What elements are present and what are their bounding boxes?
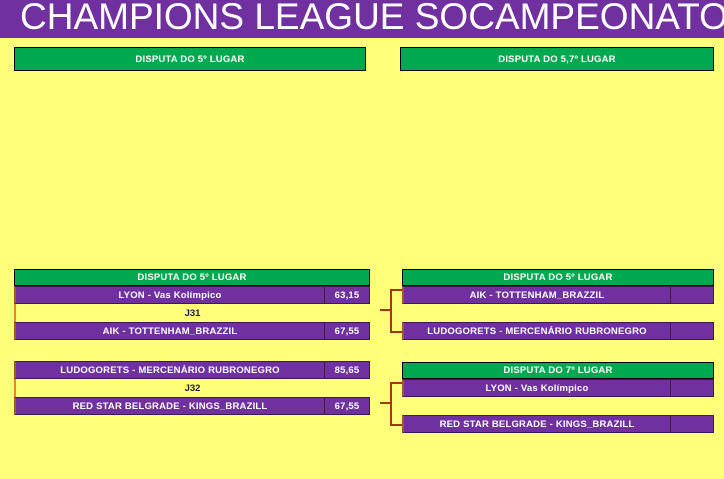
bracket-connector-top bbox=[390, 289, 402, 333]
top-banner-right: DISPUTA DO 5,7º LUGAR bbox=[400, 47, 714, 71]
right-block-1-team-top-row[interactable]: AIK - TOTTENHAM_BRAZZIL bbox=[402, 286, 714, 304]
right-block-2-spacer bbox=[402, 397, 714, 415]
team-name: LUDOGORETS - MERCENÁRIO RUBRONEGRO bbox=[404, 326, 670, 337]
left-block-2-match-code: J32 bbox=[14, 379, 370, 397]
team-score: 85,65 bbox=[324, 362, 369, 378]
bracket-connector-bottom bbox=[390, 382, 402, 426]
bracket-vertical bbox=[390, 382, 392, 426]
left-match-block-1: DISPUTA DO 5º LUGAR LYON - Vas Kolímpico… bbox=[14, 269, 370, 340]
left-block-1-team-top-row[interactable]: LYON - Vas Kolímpico 63,15 bbox=[14, 286, 370, 304]
bracket-arm-bottom bbox=[390, 424, 402, 426]
top-banner-left: DISPUTA DO 5º LUGAR bbox=[14, 47, 366, 71]
bracket-feed-line bbox=[380, 309, 390, 311]
page-title-bar: CHAMPIONS LEAGUE SOCAMPEONATOS bbox=[0, 0, 724, 38]
left-block-1-team-bottom-row[interactable]: AIK - TOTTENHAM_BRAZZIL 67,55 bbox=[14, 322, 370, 340]
bracket-arm-top bbox=[390, 289, 402, 291]
team-name: RED STAR BELGRADE - KINGS_BRAZILL bbox=[404, 419, 670, 430]
team-name: AIK - TOTTENHAM_BRAZZIL bbox=[16, 326, 324, 337]
team-name: RED STAR BELGRADE - KINGS_BRAZILL bbox=[16, 401, 324, 412]
left-block-1-match-code: J31 bbox=[14, 304, 370, 322]
team-score bbox=[670, 287, 713, 303]
left-block-1-header: DISPUTA DO 5º LUGAR bbox=[14, 269, 370, 286]
team-name: LUDOGORETS - MERCENÁRIO RUBRONEGRO bbox=[16, 365, 324, 376]
team-score: 63,15 bbox=[324, 287, 369, 303]
bracket-arm-top bbox=[390, 382, 402, 384]
team-score: 67,55 bbox=[324, 398, 369, 414]
bracket-page: CHAMPIONS LEAGUE SOCAMPEONATOS DISPUTA D… bbox=[0, 0, 724, 479]
right-block-2-team-top-row[interactable]: LYON - Vas Kolímpico bbox=[402, 379, 714, 397]
team-name: AIK - TOTTENHAM_BRAZZIL bbox=[404, 290, 670, 301]
right-block-2-header: DISPUTA DO 7º LUGAR bbox=[402, 362, 714, 379]
page-title: CHAMPIONS LEAGUE SOCAMPEONATOS bbox=[20, 0, 724, 37]
right-block-1-header: DISPUTA DO 5º LUGAR bbox=[402, 269, 714, 286]
left-block-2-team-bottom-row[interactable]: RED STAR BELGRADE - KINGS_BRAZILL 67,55 bbox=[14, 397, 370, 415]
right-block-1-spacer bbox=[402, 304, 714, 322]
right-match-block-2: DISPUTA DO 7º LUGAR LYON - Vas Kolímpico… bbox=[402, 362, 714, 433]
bracket-feed-line bbox=[380, 402, 390, 404]
bracket-vertical bbox=[390, 289, 392, 333]
team-name: LYON - Vas Kolímpico bbox=[16, 290, 324, 301]
team-score bbox=[670, 380, 713, 396]
team-score bbox=[670, 416, 713, 432]
bracket-arm-bottom bbox=[390, 331, 402, 333]
team-score: 67,55 bbox=[324, 323, 369, 339]
left-block-2-team-top-row[interactable]: LUDOGORETS - MERCENÁRIO RUBRONEGRO 85,65 bbox=[14, 361, 370, 379]
left-match-block-2: LUDOGORETS - MERCENÁRIO RUBRONEGRO 85,65… bbox=[14, 361, 370, 415]
team-score bbox=[670, 323, 713, 339]
right-match-block-1: DISPUTA DO 5º LUGAR AIK - TOTTENHAM_BRAZ… bbox=[402, 269, 714, 340]
team-name: LYON - Vas Kolímpico bbox=[404, 383, 670, 394]
right-block-2-team-bottom-row[interactable]: RED STAR BELGRADE - KINGS_BRAZILL bbox=[402, 415, 714, 433]
right-block-1-team-bottom-row[interactable]: LUDOGORETS - MERCENÁRIO RUBRONEGRO bbox=[402, 322, 714, 340]
